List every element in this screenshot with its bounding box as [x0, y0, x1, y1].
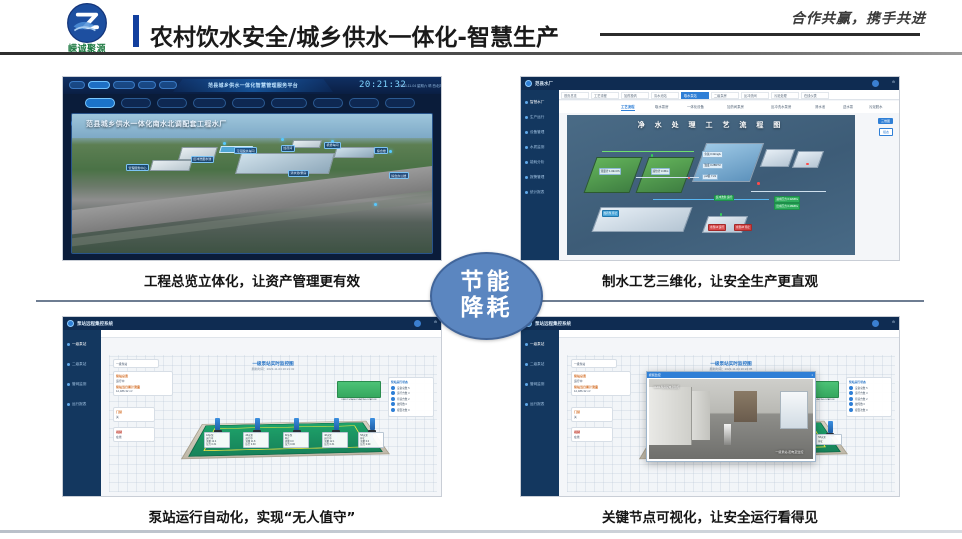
status-dot-icon	[391, 408, 395, 412]
sidebar-item-3-label: 运行报表	[72, 402, 86, 407]
status-row-3-label: 故障数 0	[397, 402, 407, 406]
screenshot-pump-station-automation[interactable]: 泵站远程集控系统 ⚙ 一级泵站 二级泵站 管网监测 运行报表	[62, 316, 442, 497]
info-panel-2: 门禁 关	[571, 407, 613, 422]
sidebar-bullet-icon	[67, 403, 70, 406]
caption-pump-station-automation: 泵站运行自动化，实现“无人值守”	[62, 506, 442, 526]
video-popup[interactable]: 视频监控 × CH01 泵房配电室监控 一级泵站-配电室监控	[646, 371, 817, 461]
app-body: 一级泵站实时监控图 刷新时间：2023-11-04 20:21:32 一级泵站 …	[101, 330, 441, 496]
breadcrumb-row	[559, 330, 899, 338]
info-panel-1-value: 12,486.32 m³	[574, 389, 628, 393]
nav-tab-0[interactable]	[85, 98, 115, 108]
node-label-2[interactable]: 余氯 0.32mg/L	[702, 151, 723, 158]
sidebar-item-1[interactable]: 生产运行	[525, 115, 544, 120]
sidebar-item-2-label: 管网监测	[72, 382, 86, 387]
nav-tab-4[interactable]	[232, 98, 265, 108]
info-panel-2: 门禁 关	[113, 407, 155, 422]
sub-tab-6[interactable]: 送水泵	[843, 104, 853, 109]
pump-body	[215, 418, 220, 430]
status-row-4-label: 报警次数 0	[397, 408, 410, 412]
sidebar-bullet-icon	[525, 343, 528, 346]
status-row-2: 停运台数 2	[849, 397, 889, 401]
caption-water-treatment-process: 制水工艺三维化，让安全生产更直观	[520, 270, 900, 290]
app-topbar-right[interactable]: ⚙	[434, 320, 437, 324]
nav-tab-5[interactable]	[271, 98, 307, 108]
status-row-0: 设备总数 5	[849, 386, 889, 390]
pump-body	[255, 418, 260, 430]
sidebar-item-2-label: 管网监测	[530, 382, 544, 387]
pump-3d-scene: 一级泵站实时监控图 刷新时间：2023-11-04 20:21:32 一级泵站 …	[109, 355, 437, 492]
caption-engineering-overview: 工程总览立体化，让资产管理更有效	[62, 270, 442, 290]
alarm-dot-1[interactable]	[757, 182, 760, 185]
node-label-5[interactable]: 反冲洗泵 运行	[714, 195, 734, 202]
node-label-8[interactable]: 水泵1# 运行	[708, 224, 726, 231]
node-label-7[interactable]: 出水压力 0.28MPa	[774, 203, 799, 210]
sidebar-bullet-icon	[525, 383, 528, 386]
nav-tab-6[interactable]	[313, 98, 343, 108]
sidebar-item-0[interactable]: 一级泵站	[67, 342, 86, 347]
pump-card-3-press: 压力 0.31	[324, 443, 346, 446]
basin-2	[635, 157, 694, 193]
status-row-1: 运行台数 3	[849, 391, 889, 395]
caption-key-node-video: 关键节点可视化，让安全运行看得见	[520, 506, 900, 526]
video-overlay-label: CH01 泵房配电室监控	[654, 385, 680, 389]
pump-card-2-press: 压力 0.00	[285, 443, 307, 446]
process-flow-title: 净 水 处 理 工 艺 流 程 图	[638, 120, 785, 130]
sub-tab-7[interactable]: 污泥脱水	[869, 104, 883, 109]
status-dot-icon	[391, 402, 395, 406]
sludge-tank-1	[760, 149, 795, 167]
screenshot-engineering-overview[interactable]: 范县城乡供水一体化智慧管理服务平台 20:21:32 2023-11-04 星期…	[62, 76, 442, 261]
node-label-4[interactable]: pH值 7.21	[702, 174, 718, 181]
status-row-4: 报警次数 0	[849, 408, 889, 412]
map-tag-5[interactable]: 综合楼	[374, 147, 388, 154]
sidebar-bullet-icon	[67, 343, 70, 346]
status-row-4: 报警次数 0	[391, 408, 431, 412]
sidebar-item-5[interactable]: 报警管理	[525, 175, 544, 180]
tab-4[interactable]: 取水泵站	[681, 92, 709, 99]
tab-5[interactable]: 二级泵房	[711, 92, 739, 99]
pump-card-0[interactable]: 1#水泵 运行中 流量 12.4 压力 0.31	[204, 432, 230, 449]
tab-3[interactable]: 清水池站	[651, 92, 679, 99]
map-tag-3[interactable]: 加药间	[281, 145, 295, 152]
tab-row: 首页总览 工艺流程 加药投矾 清水池站 取水泵站 二级泵房 反冲洗间 污泥处理 …	[559, 90, 899, 100]
ok-dot-1[interactable]	[720, 213, 723, 216]
status-row-0-label: 设备总数 5	[397, 386, 410, 390]
sidebar-item-1-label: 二级泵站	[72, 362, 86, 367]
sidebar-bullet-icon	[525, 363, 528, 366]
app-topbar-right[interactable]: ⚙	[892, 80, 895, 84]
topbar-pill-4[interactable]	[159, 81, 177, 89]
station-select-value: 一级泵站	[574, 362, 585, 366]
sidebar-item-2[interactable]: 管网监测	[525, 382, 544, 387]
room-doorway	[734, 391, 757, 423]
node-label-0[interactable]: 流量计 1.02m³/h	[599, 168, 622, 175]
status-list-title: 泵站运行状态	[849, 380, 889, 384]
title-accent-bar	[133, 15, 139, 47]
aerial-render: 管理服务中心 反冲洗废水池 污泥脱水车间 加药间 机修车间 综合楼 清水池/泵房…	[72, 114, 432, 253]
app-sidebar: 智慧水厂 生产运行 设备管理 水质监测 能耗分析	[521, 90, 559, 260]
node-label-1[interactable]: 液位计 3.45m	[651, 168, 671, 175]
info-panel-3: 视频 在线	[571, 427, 613, 442]
map-tag-4[interactable]: 机修车间	[324, 142, 341, 149]
platform-banner-text: 范县城乡供水一体化智慧管理服务平台	[208, 82, 298, 89]
video-popup-titlebar: 视频监控 ×	[647, 372, 816, 378]
info-panel-3-value: 在线	[116, 435, 152, 439]
status-row-3: 故障数 0	[391, 402, 431, 406]
app-system-name: 泵站远程集控系统	[535, 321, 571, 327]
sub-tab-0[interactable]: 工艺流程	[621, 104, 635, 111]
sidebar-bullet-icon	[525, 146, 528, 149]
scada-nav-tabs	[63, 96, 441, 110]
status-row-1-label: 运行台数 3	[397, 391, 410, 395]
topbar-pill-1[interactable]	[88, 81, 110, 89]
sub-tab-2[interactable]: 一体化设备	[687, 104, 704, 109]
process-app-window: 范县水厂 ⚙ 智慧水厂 生产运行 设备管理 水质监测	[521, 77, 899, 260]
scene-refresh-time: 刷新时间：2023-11-04 20:21:32	[252, 367, 295, 371]
sidebar-item-1[interactable]: 二级泵站	[525, 362, 544, 367]
node-label-10[interactable]: 加药泵 停止	[602, 210, 620, 217]
pump-body	[370, 418, 375, 430]
pump-body	[294, 418, 299, 430]
company-logo: 嵘诚聚源	[48, 2, 126, 56]
user-avatar[interactable]	[872, 80, 879, 87]
nav-tab-3[interactable]	[193, 98, 226, 108]
node-label-6[interactable]: 进水压力 0.32MPa	[774, 196, 799, 203]
close-icon[interactable]: ×	[812, 373, 814, 377]
status-row-4-label: 报警次数 0	[855, 408, 868, 412]
room-window	[780, 391, 808, 429]
sidebar-item-2[interactable]: 管网监测	[67, 382, 86, 387]
app-body: 首页总览 工艺流程 加药投矾 清水池站 取水泵站 二级泵房 反冲洗间 污泥处理 …	[559, 90, 899, 260]
building-c	[150, 160, 193, 171]
sidebar-item-3[interactable]: 运行报表	[67, 402, 86, 407]
building-e	[290, 140, 321, 148]
sub-tab-3[interactable]: 加药间泵房	[727, 104, 744, 109]
sub-tab-1[interactable]: 取水泵房	[655, 104, 669, 109]
platform-banner: 范县城乡供水一体化智慧管理服务平台	[173, 79, 333, 92]
topbar-pill-0[interactable]	[69, 81, 85, 89]
pump-body	[828, 421, 833, 433]
screenshot-key-node-video[interactable]: 泵站远程集控系统 ⚙ 一级泵站 二级泵站 管网监测 运行报表	[520, 316, 900, 497]
sidebar-item-0-label: 一级泵站	[530, 342, 544, 347]
video-popup-title: 视频监控	[649, 373, 661, 377]
pump-app-window: 泵站远程集控系统 ⚙ 一级泵站 二级泵站 管网监测 运行报表	[63, 317, 441, 496]
sidebar-item-0[interactable]: 一级泵站	[525, 342, 544, 347]
status-row-3: 故障数 0	[849, 402, 889, 406]
scene-refresh-time: 刷新时间：2023-11-04 20:22:05	[710, 367, 753, 371]
sidebar-item-1-label: 生产运行	[530, 115, 544, 120]
info-panel-1-value: 12,486.32 m³	[116, 389, 170, 393]
hotspot-dot-1[interactable]	[281, 138, 284, 141]
center-badge-line-2: 降耗	[461, 296, 513, 322]
tab-2[interactable]: 加药投矾	[621, 92, 649, 99]
map-tag-6[interactable]: 清水池/泵房	[288, 170, 309, 177]
sidebar-item-4-label: 能耗分析	[530, 160, 544, 165]
status-dot-icon	[391, 386, 395, 390]
alarm-dot-2[interactable]	[806, 163, 809, 166]
sidebar-item-3[interactable]: 水质监测	[525, 145, 544, 150]
basin-1	[583, 157, 642, 193]
pipe-sludge	[751, 191, 826, 192]
sidebar-item-3-label: 运行报表	[530, 402, 544, 407]
pump-card-1[interactable]: 2#水泵 运行中 流量 11.8 压力 0.30	[243, 432, 269, 449]
node-label-9[interactable]: 水泵2# 停止	[734, 224, 752, 231]
nav-tab-1[interactable]	[121, 98, 151, 108]
status-dot-icon	[391, 397, 395, 401]
app-logo-icon	[67, 320, 74, 327]
sidebar-bullet-icon	[525, 161, 528, 164]
status-row-2-label: 停运台数 2	[855, 397, 868, 401]
sidebar-item-3-label: 水质监测	[530, 145, 544, 150]
video-camera-stamp: 一级泵站-配电室监控	[775, 450, 803, 454]
sidebar-bullet-icon	[67, 363, 70, 366]
company-logo-z-mark	[66, 2, 108, 44]
sidebar-item-2[interactable]: 设备管理	[525, 130, 544, 135]
sidebar-bullet-icon	[525, 131, 528, 134]
app-topbar	[521, 77, 899, 90]
app-logo-icon	[525, 80, 532, 87]
video-feed: CH01 泵房配电室监控 一级泵站-配电室监控	[649, 379, 814, 458]
info-panel-3: 视频 在线	[113, 427, 155, 442]
status-row-2-label: 停运台数 2	[397, 397, 410, 401]
sidebar-item-4[interactable]: 能耗分析	[525, 160, 544, 165]
hotspot-dot-3[interactable]	[389, 150, 392, 153]
ok-dot-0[interactable]	[651, 154, 654, 157]
footer-divider	[0, 530, 962, 533]
sidebar-bullet-icon	[525, 176, 528, 179]
slide-root: 嵘诚聚源 农村饮水安全/城乡供水一体化-智慧生产 合作共赢，携手共进 范县城乡供…	[0, 0, 962, 539]
sub-tab-row: 工艺流程 取水泵房 一体化设备 加药间泵房 反冲洗水泵房 清水池 送水泵 污泥脱…	[559, 101, 899, 113]
user-avatar[interactable]	[414, 320, 421, 327]
switchgear-cabinet-2	[692, 391, 710, 440]
status-dot-icon	[849, 391, 853, 395]
sidebar-item-2-label: 设备管理	[530, 130, 544, 135]
nav-tab-7[interactable]	[349, 98, 379, 108]
center-badge: 节能 降耗	[430, 252, 543, 340]
map-tag-0[interactable]: 管理服务中心	[126, 164, 149, 171]
pump-3d-scene: 一级泵站实时监控图 刷新时间：2023-11-04 20:22:05 一级泵站 …	[567, 355, 895, 492]
aerial-stage-title: 范县城乡供水一体化南水北调配套工程水厂	[86, 119, 227, 129]
sidebar-item-0-label: 一级泵站	[72, 342, 86, 347]
app-system-name: 范县水厂	[535, 81, 553, 87]
switchgear-cabinet-row	[649, 387, 692, 444]
app-sidebar: 一级泵站 二级泵站 管网监测 运行报表	[63, 330, 101, 496]
tab-1[interactable]: 工艺流程	[591, 92, 619, 99]
status-row-3-label: 故障数 0	[855, 402, 865, 406]
status-row-1-label: 运行台数 3	[855, 391, 868, 395]
sidebar-item-3[interactable]: 运行报表	[525, 402, 544, 407]
screenshot-water-treatment-process[interactable]: 范县水厂 ⚙ 智慧水厂 生产运行 设备管理 水质监测	[520, 76, 900, 261]
pump-card-4[interactable]: 5#水泵 停止	[816, 434, 842, 444]
app-sidebar: 一级泵站 二级泵站 管网监测 运行报表	[521, 330, 559, 496]
info-panel-3-value: 在线	[574, 435, 610, 439]
status-row-2: 停运台数 2	[391, 397, 431, 401]
pump-card-2[interactable]: 3#水泵 停止 流量 0.0 压力 0.00	[283, 432, 309, 449]
info-panel-0-value: 运行中	[574, 379, 628, 383]
pipe-raw	[653, 199, 768, 200]
user-avatar[interactable]	[872, 320, 879, 327]
status-row-1: 运行台数 3	[391, 391, 431, 395]
pump-card-0-press: 压力 0.31	[206, 443, 228, 446]
sidebar-item-5-label: 报警管理	[530, 175, 544, 180]
info-panel-0: 泵站总览 运行中 泵站当日累计流量 12,486.32 m³	[113, 371, 173, 396]
app-system-name: 泵站远程集控系统	[77, 321, 113, 327]
station-select-value: 一级泵站	[116, 362, 127, 366]
weather-meta: 2023-11-04 星期六 晴 西北风 10℃	[399, 83, 442, 88]
sidebar-item-0[interactable]: 智慧水厂	[525, 100, 544, 105]
station-building-label: FIRST STAGE PUMPING STATION	[337, 399, 381, 401]
pump-card-4-state: 停止	[818, 440, 840, 443]
title-underline	[600, 33, 920, 36]
status-dot-icon	[849, 402, 853, 406]
node-label-3[interactable]: 浊度 0.28NTU	[702, 163, 722, 170]
page-title: 农村饮水安全/城乡供水一体化-智慧生产	[150, 18, 559, 52]
status-row-0-label: 设备总数 5	[855, 386, 868, 390]
sidebar-item-1-label: 二级泵站	[530, 362, 544, 367]
topbar-pill-3[interactable]	[138, 81, 156, 89]
status-dot-icon	[849, 397, 853, 401]
center-badge-line-1: 节能	[461, 270, 513, 296]
tab-0[interactable]: 首页总览	[561, 92, 589, 99]
topbar-pill-2[interactable]	[113, 81, 135, 89]
status-list: 泵站运行状态 设备总数 5 运行台数 3 停运台数 2 故障数 0 报警次数 0	[388, 377, 434, 417]
header-tagline: 合作共赢，携手共进	[791, 8, 926, 28]
building-main-hall	[235, 153, 335, 174]
app-topbar	[63, 317, 441, 330]
app-topbar	[521, 317, 899, 330]
map-tag-2[interactable]: 污泥脱水车间	[234, 147, 257, 154]
status-list-title: 泵站运行状态	[391, 380, 431, 384]
station-select[interactable]: 一级泵站	[571, 359, 617, 368]
map-tag-1[interactable]: 反冲洗废水池	[191, 156, 214, 163]
header-divider	[0, 52, 962, 55]
page-header: 嵘诚聚源 农村饮水安全/城乡供水一体化-智慧生产 合作共赢，携手共进	[0, 0, 962, 58]
sidebar-bullet-icon	[67, 383, 70, 386]
sidebar-item-6-label: 统计报表	[530, 190, 544, 195]
view-scada-button[interactable]: 组态	[879, 128, 893, 136]
building-d	[333, 147, 376, 158]
sub-tab-5[interactable]: 清水池	[815, 104, 825, 109]
status-dot-icon	[849, 408, 853, 412]
pump-card-3[interactable]: 4#水泵 运行中 流量 12.1 压力 0.31	[322, 432, 348, 449]
sidebar-item-1[interactable]: 二级泵站	[67, 362, 86, 367]
tab-6[interactable]: 反冲洗间	[741, 92, 769, 99]
hotspot-dot-0[interactable]	[223, 142, 226, 145]
process-flow-canvas: 净 水 处 理 工 艺 流 程 图 流量计 1.02m³/h 液位计 3.45m…	[567, 115, 855, 255]
station-building-green	[337, 381, 381, 398]
info-panel-2-value: 关	[574, 415, 610, 419]
app-body: 一级泵站实时监控图 刷新时间：2023-11-04 20:22:05 一级泵站 …	[559, 330, 899, 496]
status-dot-icon	[849, 386, 853, 390]
info-panel-0-value: 运行中	[116, 379, 170, 383]
tab-8[interactable]: 在线仪表	[801, 92, 829, 99]
sidebar-bullet-icon	[525, 116, 528, 119]
view-3d-button[interactable]: 三维图	[878, 118, 893, 124]
status-list: 泵站运行状态 设备总数 5 运行台数 3 停运台数 2 故障数 0 报警次数 0	[846, 377, 892, 417]
nav-tab-8[interactable]	[385, 98, 415, 108]
pump-card-4[interactable]: 5#水泵 停止 流量 0.0 压力 0.00	[358, 432, 384, 449]
pump-body	[334, 418, 339, 430]
sidebar-item-0-label: 智慧水厂	[530, 100, 544, 105]
nav-tab-2[interactable]	[157, 98, 187, 108]
aerial-stage: 管理服务中心 反冲洗废水池 污泥脱水车间 加药间 机修车间 综合楼 清水池/泵房…	[71, 113, 433, 254]
sidebar-bullet-icon	[525, 101, 528, 104]
floor-reflection	[724, 424, 731, 445]
info-panel-2-value: 关	[116, 415, 152, 419]
tab-7[interactable]: 污泥处理	[771, 92, 799, 99]
map-tag-7[interactable]: 综合办公楼	[389, 172, 409, 179]
sidebar-bullet-icon	[525, 191, 528, 194]
pump-card-1-press: 压力 0.30	[245, 443, 267, 446]
sidebar-item-6[interactable]: 统计报表	[525, 190, 544, 195]
station-select[interactable]: 一级泵站	[113, 359, 159, 368]
sub-tab-4[interactable]: 反冲洗水泵房	[771, 104, 791, 109]
app-topbar-right[interactable]: ⚙	[892, 320, 895, 324]
sidebar-bullet-icon	[525, 403, 528, 406]
scada-app-window: 范县城乡供水一体化智慧管理服务平台 20:21:32 2023-11-04 星期…	[63, 77, 441, 260]
sludge-tank-2	[791, 151, 823, 168]
pump-card-4-press: 压力 0.00	[360, 443, 382, 446]
pipe-dosing	[602, 151, 694, 152]
status-row-0: 设备总数 5	[391, 386, 431, 390]
video-app-window: 泵站远程集控系统 ⚙ 一级泵站 二级泵站 管网监测 运行报表	[521, 317, 899, 496]
info-panel-0: 泵站总览 运行中 泵站当日累计流量 12,486.32 m³	[571, 371, 631, 396]
breadcrumb-row	[101, 330, 441, 338]
status-dot-icon	[391, 391, 395, 395]
